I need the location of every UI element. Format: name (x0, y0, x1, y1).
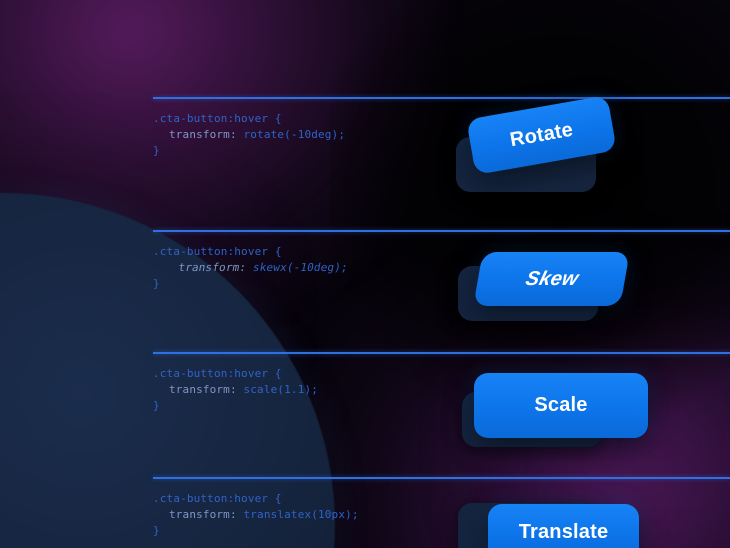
code-property: transform: (169, 508, 237, 521)
code-snippet-rotate: .cta-button:hover { transform: rotate(-1… (153, 111, 345, 158)
cta-button-label: Rotate (508, 118, 574, 152)
code-snippet-scale: .cta-button:hover { transform: scale(1.1… (153, 366, 318, 413)
code-value: scale(1.1); (244, 383, 319, 396)
transform-row-translate: .cta-button:hover { transform: translate… (0, 477, 730, 548)
row-divider (153, 97, 730, 99)
code-value: skewx(-10deg); (252, 261, 349, 274)
code-property: transform: (169, 383, 237, 396)
row-divider (153, 352, 730, 354)
code-property: transform: (177, 261, 247, 274)
cta-button-skew[interactable]: Skew (473, 252, 630, 306)
code-selector: .cta-button:hover { (153, 492, 282, 505)
row-divider (153, 230, 730, 232)
code-close-brace: } (153, 524, 160, 537)
transform-row-rotate: .cta-button:hover { transform: rotate(-1… (0, 97, 730, 217)
code-close-brace: } (153, 277, 160, 290)
cta-button-label: Scale (534, 394, 587, 417)
code-property: transform: (169, 128, 237, 141)
cta-button-label: Skew (523, 268, 581, 291)
code-selector: .cta-button:hover { (153, 245, 282, 258)
row-divider (153, 477, 730, 479)
code-value: translatex(10px); (244, 508, 359, 521)
code-snippet-skew: .cta-button:hover { transform: skewx(-10… (153, 244, 346, 291)
code-close-brace: } (153, 399, 160, 412)
cta-button-scale[interactable]: Scale (474, 373, 648, 438)
code-value: rotate(-10deg); (244, 128, 346, 141)
transform-demo-canvas: .cta-button:hover { transform: rotate(-1… (0, 0, 730, 548)
cta-button-translate[interactable]: Translate (488, 504, 639, 548)
code-selector: .cta-button:hover { (153, 112, 282, 125)
transform-row-skew: .cta-button:hover { transform: skewx(-10… (0, 230, 730, 350)
transform-rows: .cta-button:hover { transform: rotate(-1… (0, 0, 730, 548)
code-snippet-translate: .cta-button:hover { transform: translate… (153, 491, 359, 538)
cta-button-label: Translate (519, 521, 609, 544)
code-selector: .cta-button:hover { (153, 367, 282, 380)
code-close-brace: } (153, 144, 160, 157)
transform-row-scale: .cta-button:hover { transform: scale(1.1… (0, 352, 730, 472)
